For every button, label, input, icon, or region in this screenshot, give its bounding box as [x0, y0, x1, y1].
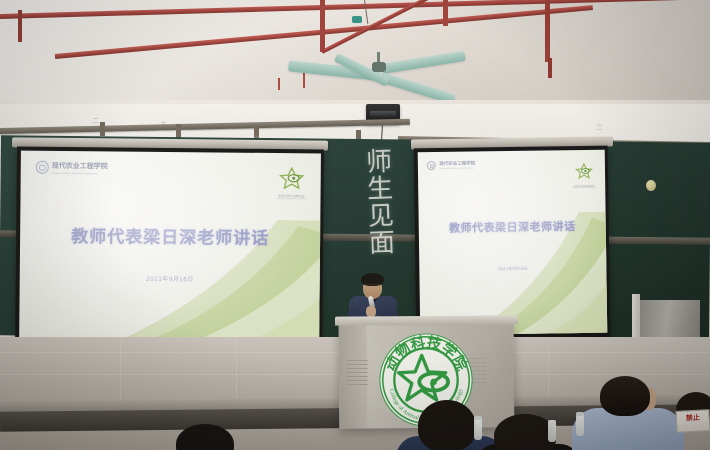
university-seal-icon	[427, 161, 436, 170]
audience-head-center-right	[494, 414, 556, 450]
slide-university-logo-right: 现代农业工程学院 College of Modern Agricultural …	[427, 161, 475, 171]
floor-tile-line-4	[236, 340, 237, 402]
podium-desktop	[335, 315, 518, 325]
wall-light-icon	[646, 180, 656, 191]
water-bottle-2	[576, 414, 584, 436]
slide-date-left: 2021年9月16日	[20, 272, 320, 284]
slide-left: 现代农业工程学院 College of Modern Agricultural …	[19, 151, 321, 350]
floor-tile-line-3	[120, 340, 121, 400]
projection-screen-right: 现代农业工程学院 College of Modern Agricultural …	[414, 146, 611, 341]
university-name-en: College of Modern Agricultural Engineeri…	[439, 168, 475, 171]
sprinkler-head-2	[278, 78, 280, 90]
pipe-hanger-4	[545, 0, 550, 62]
slide-right: 现代农业工程学院 College of Modern Agricultural …	[418, 150, 608, 336]
audience-head-right	[600, 376, 650, 416]
wall-notice-text: 禁止	[676, 410, 709, 424]
university-name-cn: 现代农业工程学院	[439, 161, 475, 168]
slide-university-logo-left: 现代农业工程学院 College of Modern Agricultural …	[36, 161, 108, 176]
pipe-hanger-5	[548, 58, 552, 78]
projection-screen-left: 现代农业工程学院 College of Modern Agricultural …	[15, 147, 324, 355]
slide-association-logo-left: 全国大学生创新创业 National College Student Innov…	[277, 167, 306, 200]
pipe-hanger-3	[443, 0, 448, 26]
slide-title-left: 教师代表梁日深老师讲话	[20, 221, 320, 249]
water-bottle-1	[474, 418, 482, 440]
sprinkler-head-1	[303, 72, 305, 88]
glasses-icon	[364, 284, 381, 288]
projector-lens-icon	[370, 111, 396, 117]
slide-association-logo-right: 全国大学生创新创业 National College Student Innov…	[572, 163, 596, 189]
ceiling-fan-icon	[372, 62, 386, 72]
wall-notice-sign: 禁止	[675, 409, 710, 433]
water-bottle-cap-2	[576, 412, 584, 416]
audience-head-center	[418, 400, 476, 450]
rail-post-2	[176, 124, 181, 138]
podium-vent-left	[346, 360, 368, 388]
university-seal-icon	[36, 161, 49, 174]
university-name-en: College of Modern Agricultural Engineeri…	[52, 172, 108, 176]
rail-post-1	[100, 122, 105, 136]
water-bottle-cap-1	[474, 416, 482, 420]
association-name-en: National College Student Innovation	[572, 188, 596, 189]
floor-tile-line-5	[548, 344, 549, 402]
pipe-hanger-2	[320, 0, 325, 52]
speaker-hand	[366, 306, 376, 317]
classroom-photo-scene: 二 丰 三 师生见面	[0, 0, 710, 450]
association-name-en: National College Student Innovation	[277, 198, 306, 200]
sprinkler-valve-icon	[352, 16, 362, 23]
water-bottle-3	[548, 420, 556, 442]
star-eye-icon	[575, 163, 593, 179]
blackboard-chalk-text: 师生见面	[343, 147, 395, 257]
star-eye-icon	[278, 167, 304, 189]
slide-title-right: 教师代表梁日深老师讲话	[419, 217, 606, 236]
whiteboard-mark-3: 三	[596, 122, 603, 132]
whiteboard-mark-1: 二	[92, 116, 99, 126]
university-name-cn: 现代农业工程学院	[52, 161, 108, 172]
pipe-hanger-1	[18, 10, 22, 42]
